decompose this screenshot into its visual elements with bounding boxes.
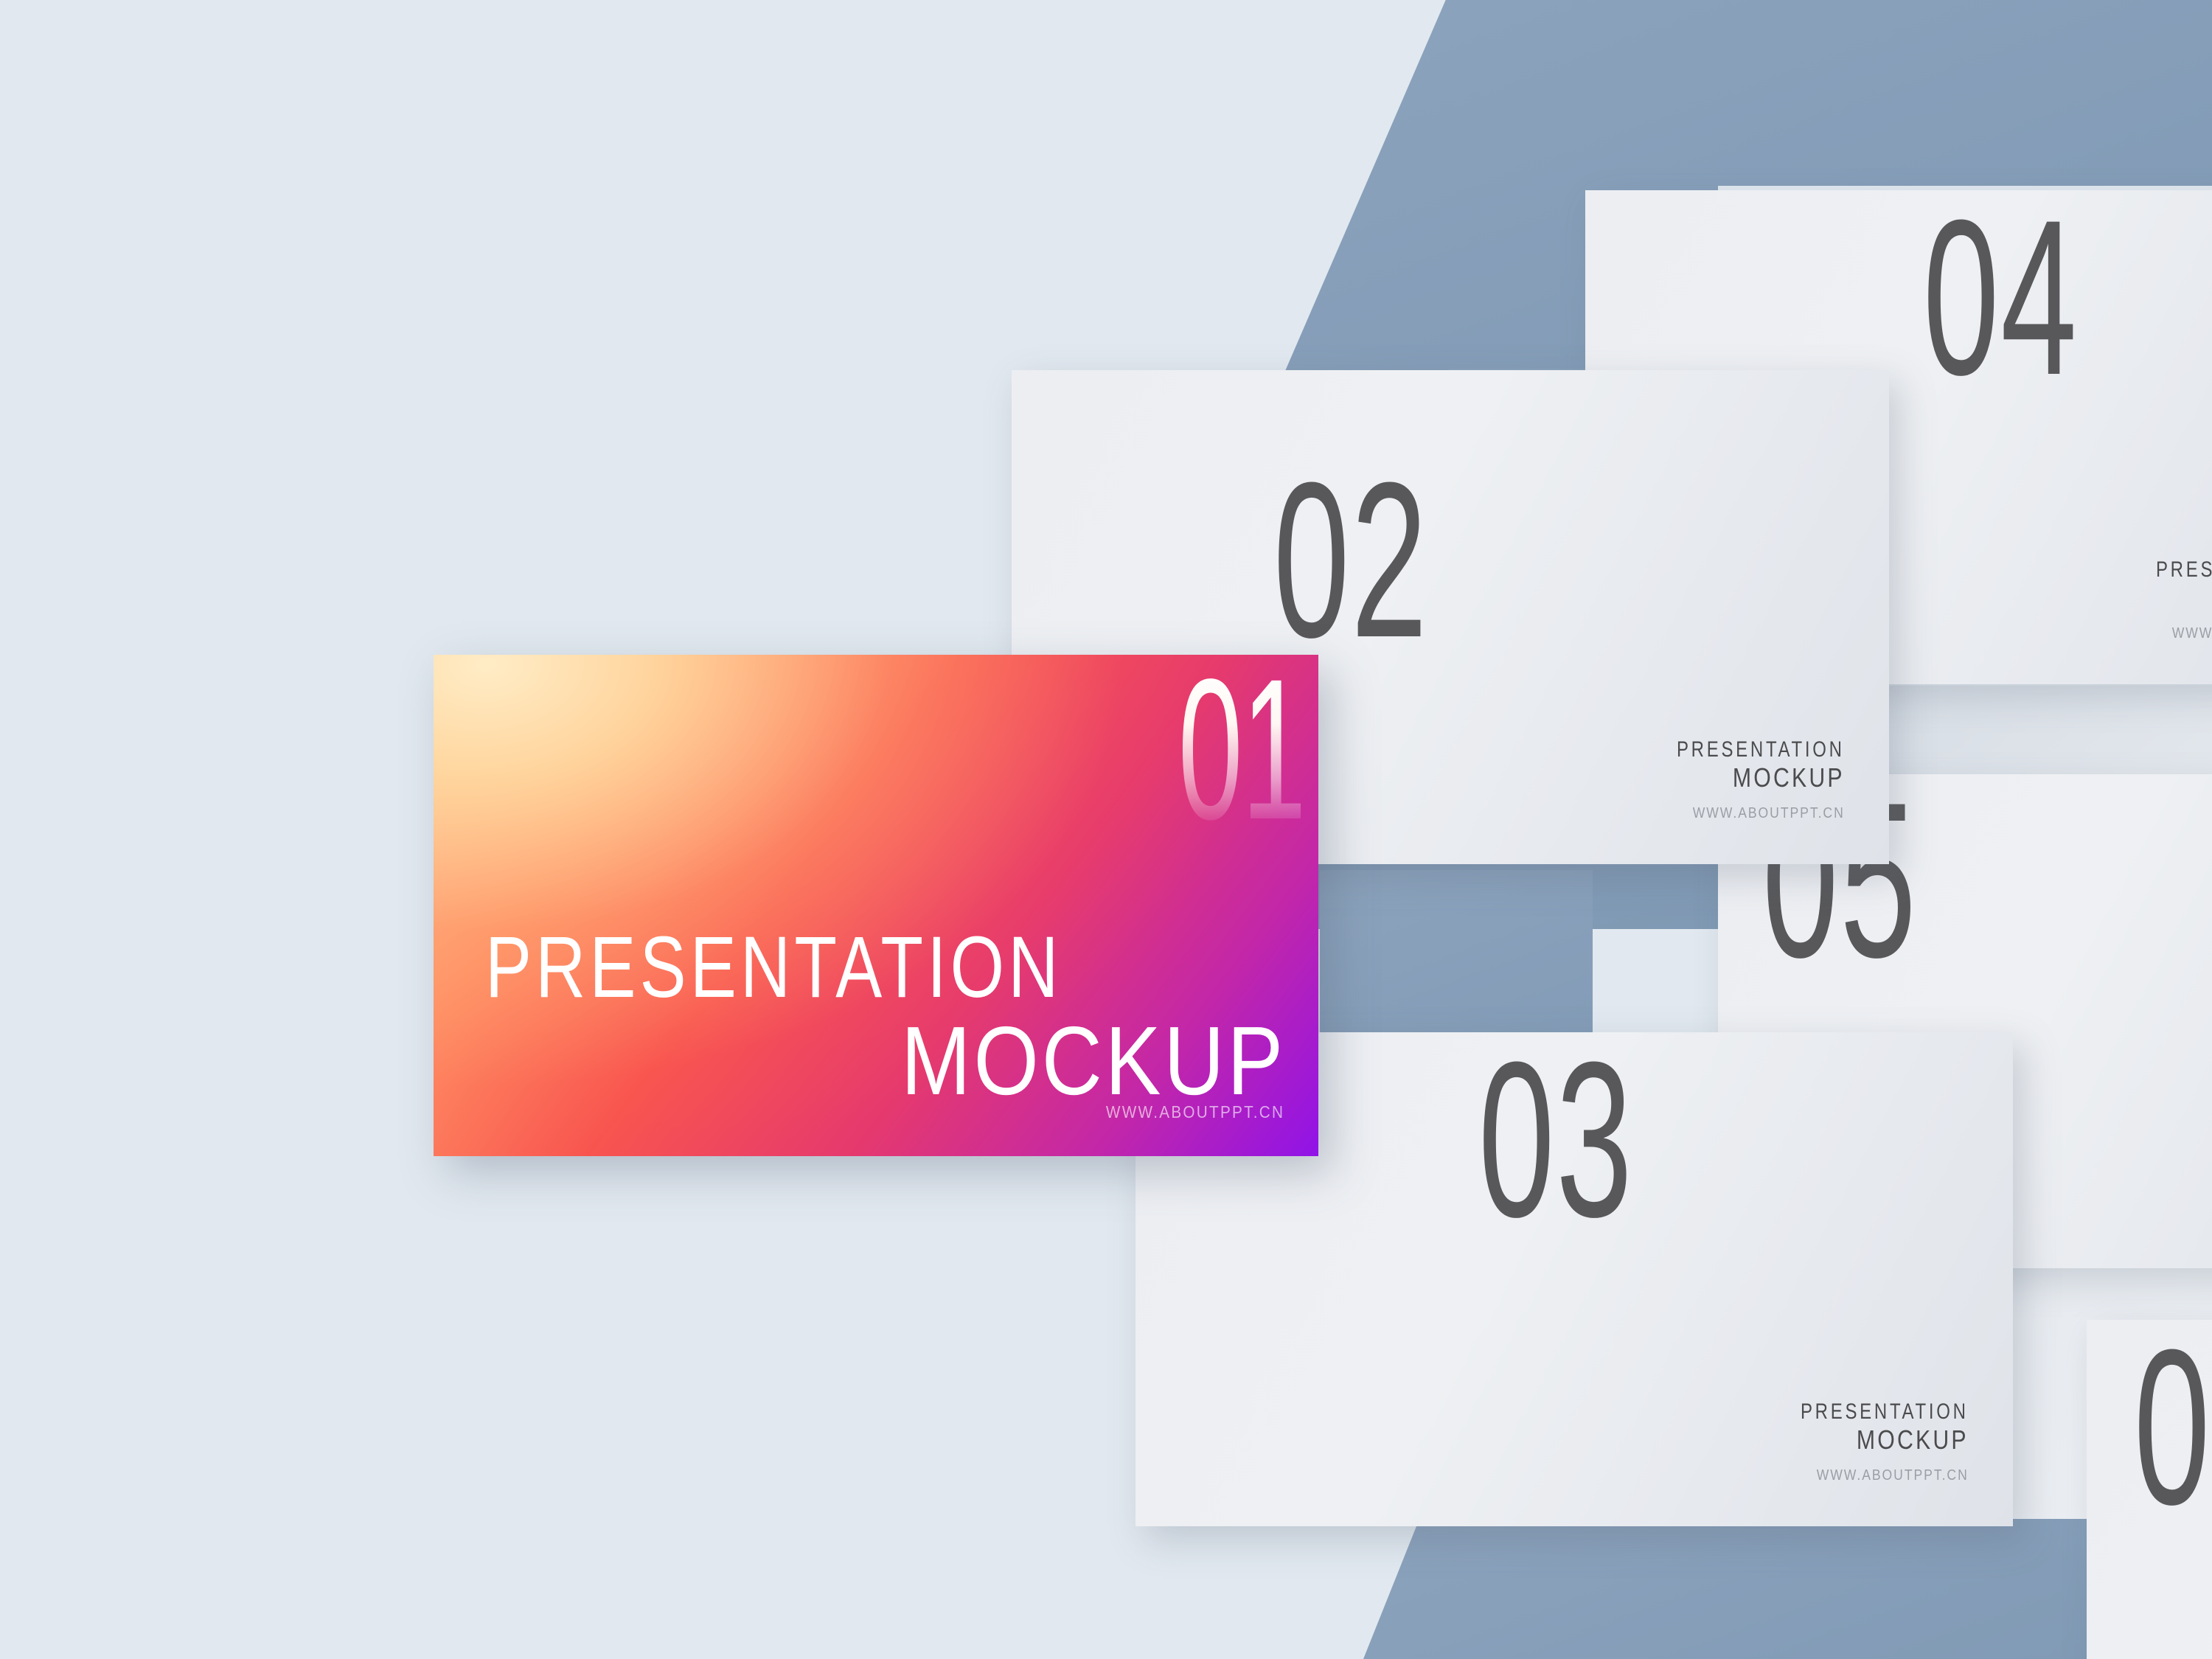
card-number-03: 03 (1478, 1053, 1634, 1225)
card-footer-03: PRESENTATION MOCKUP WWW.ABOUTPPT.CN (1759, 1399, 1969, 1485)
card-number-02: 02 (1273, 473, 1429, 646)
card-footer-title-02: PRESENTATION (1677, 737, 1845, 762)
card-footer-02: PRESENTATION MOCKUP WWW.ABOUTPPT.CN (1635, 737, 1845, 823)
card-footer-url-02: WWW.ABOUTPPT.CN (1660, 805, 1845, 823)
slide-card-01-hero[interactable]: 01 PRESENTATION MOCKUP WWW.ABOUTPPT.CN (434, 655, 1318, 1156)
card-footer-subtitle-03: MOCKUP (1792, 1425, 1969, 1455)
card-number-01: 01 (1178, 671, 1305, 827)
card-footer-subtitle-02: MOCKUP (1669, 762, 1845, 793)
card-footer-url-04: WWW.ABOUTPPT.CN (2139, 625, 2212, 643)
card-footer-url-03: WWW.ABOUTPPT.CN (1784, 1467, 1969, 1485)
hero-title-line1: PRESENTATION (485, 917, 1062, 1018)
card-footer-subtitle-04: MOCKUP (2148, 582, 2212, 613)
card-footer-title-03: PRESENTATION (1801, 1399, 1969, 1425)
background-diagonal-shape-bottom (1320, 1519, 2212, 1659)
card-footer-title-04: PRESENTATION (2156, 557, 2212, 582)
card-number-04: 04 (1923, 211, 2079, 383)
mockup-canvas: 06 PRESENTATION MOCKUP WWW.ABOUTPPT.CN 0… (0, 0, 2212, 1659)
card-footer-04: PRESENTATION MOCKUP WWW.ABOUTPPT.CN (2114, 557, 2212, 643)
card-number-06: 06 (2134, 1340, 2212, 1513)
hero-url: WWW.ABOUTPPT.CN (1106, 1102, 1284, 1122)
hero-title-line2: MOCKUP (901, 1005, 1286, 1116)
slide-card-06[interactable]: 06 PRESENTATION MOCKUP WWW.ABOUTPPT.CN (2087, 1320, 2212, 1659)
